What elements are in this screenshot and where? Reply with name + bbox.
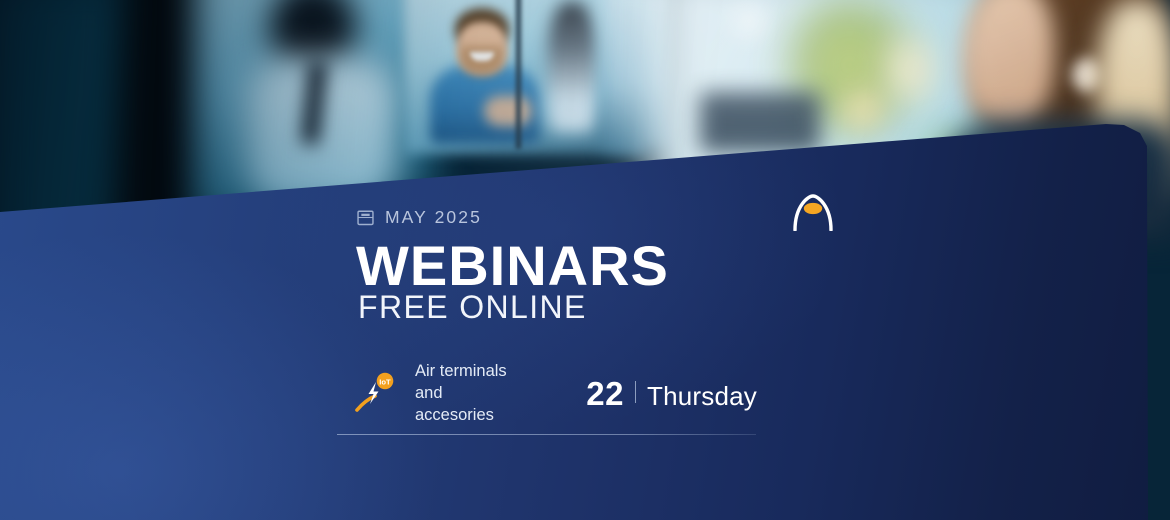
event-divider	[337, 434, 756, 435]
calendar-icon	[357, 209, 374, 226]
page-subtitle: FREE ONLINE	[358, 291, 587, 323]
event-day-number: 22	[586, 375, 624, 413]
month-label: MAY 2025	[385, 207, 482, 228]
iot-badge-text: IoT	[379, 377, 391, 386]
webinar-promo-banner: MAY 2025 WEBINARS FREE ONLINE IoT Air te…	[0, 0, 1170, 520]
event-title-line1: Air terminals and	[415, 362, 507, 402]
event-date: 22 Thursday	[586, 375, 757, 413]
banner-content: MAY 2025 WEBINARS FREE ONLINE IoT Air te…	[0, 0, 1170, 520]
iot-lightning-glyph: IoT	[353, 370, 397, 418]
month-kicker: MAY 2025	[357, 207, 482, 228]
event-weekday: Thursday	[647, 381, 757, 412]
arch-logo	[791, 193, 835, 231]
event-entry[interactable]: IoT Air terminals and accesories 22 Thur…	[337, 363, 757, 425]
page-title: WEBINARS	[356, 238, 669, 294]
event-title-line2: accesories	[415, 406, 494, 424]
iot-lightning-icon: IoT	[353, 370, 397, 418]
event-title: Air terminals and accesories	[415, 361, 534, 427]
date-separator	[635, 381, 636, 403]
